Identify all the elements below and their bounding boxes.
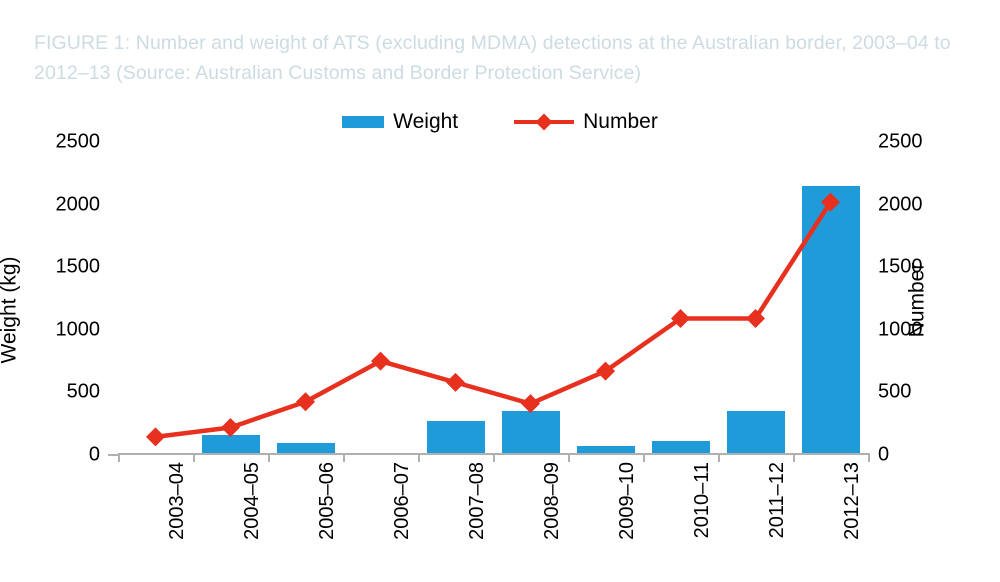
- left-axis-tick-1500: 1500: [56, 256, 101, 279]
- number-marker-2005–06[interactable]: 2005–06: 425: [296, 392, 315, 411]
- x-axis-labels: 2003–042004–052005–062006–072007–082008–…: [118, 462, 868, 572]
- x-tick-mark: [268, 453, 270, 462]
- left-axis-tick-500: 500: [67, 381, 100, 404]
- x-tick-mark: [568, 453, 570, 462]
- x-tick-mark: [493, 453, 495, 462]
- x-axis-label-2005–06: 2005–06: [316, 462, 339, 540]
- legend-item-number[interactable]: Number: [514, 110, 658, 134]
- bar-swatch-icon: [342, 116, 384, 128]
- x-tick-mark: [193, 453, 195, 462]
- left-axis-tick-2500: 2500: [56, 131, 101, 154]
- left-axis-tick-mark: [108, 454, 118, 456]
- number-marker-2007–08[interactable]: 2007–08: 580: [446, 373, 465, 392]
- number-marker-2003–04[interactable]: 2003–04: 145: [146, 427, 165, 446]
- x-axis-label-2010–11: 2010–11: [691, 462, 714, 538]
- x-axis-label-2012–13: 2012–13: [841, 462, 864, 540]
- x-tick-mark: [418, 453, 420, 462]
- right-axis: 0 500 1000 1500 2000 2500: [878, 142, 988, 455]
- left-axis-title: Weight (kg): [0, 257, 21, 364]
- x-axis-label-2008–09: 2008–09: [541, 462, 564, 540]
- chart-legend: Weight Number: [0, 110, 1000, 134]
- x-tick-mark: [118, 453, 120, 462]
- number-marker-2008–09[interactable]: 2008–09: 410: [521, 394, 540, 413]
- x-axis-label-2007–08: 2007–08: [466, 462, 489, 540]
- plot-area: 2003–04: 1452004–05: 2202005–06: 4252006…: [118, 142, 868, 455]
- figure-title: FIGURE 1: Number and weight of ATS (excl…: [34, 28, 964, 88]
- right-axis-title: Number: [905, 263, 929, 338]
- right-axis-tick-2500: 2500: [878, 131, 923, 154]
- legend-label-number: Number: [583, 110, 658, 134]
- left-axis-tick-2000: 2000: [56, 193, 101, 216]
- line-series-number: 2003–04: 1452004–05: 2202005–06: 4252006…: [118, 142, 868, 455]
- legend-item-weight[interactable]: Weight: [342, 110, 458, 134]
- x-axis-label-2011–12: 2011–12: [766, 462, 789, 538]
- x-tick-mark: [868, 453, 870, 462]
- x-axis-label-2009–10: 2009–10: [616, 462, 639, 540]
- right-axis-tick-500: 500: [878, 381, 911, 404]
- x-axis-label-2006–07: 2006–07: [391, 462, 414, 540]
- legend-label-weight: Weight: [393, 110, 458, 134]
- x-tick-mark: [793, 453, 795, 462]
- left-axis-tick-1000: 1000: [56, 318, 101, 341]
- left-axis-tick-0: 0: [89, 444, 100, 467]
- x-tick-mark: [718, 453, 720, 462]
- x-tick-mark: [643, 453, 645, 462]
- right-axis-tick-2000: 2000: [878, 193, 923, 216]
- right-axis-tick-0: 0: [878, 444, 889, 467]
- x-tick-mark: [343, 453, 345, 462]
- number-marker-2006–07[interactable]: 2006–07: 750: [371, 352, 390, 371]
- x-axis-label-2003–04: 2003–04: [166, 462, 189, 540]
- number-line-path: [156, 202, 831, 437]
- number-marker-2004–05[interactable]: 2004–05: 220: [221, 418, 240, 437]
- line-diamond-swatch-icon: [514, 115, 574, 129]
- x-axis-label-2004–05: 2004–05: [241, 462, 264, 540]
